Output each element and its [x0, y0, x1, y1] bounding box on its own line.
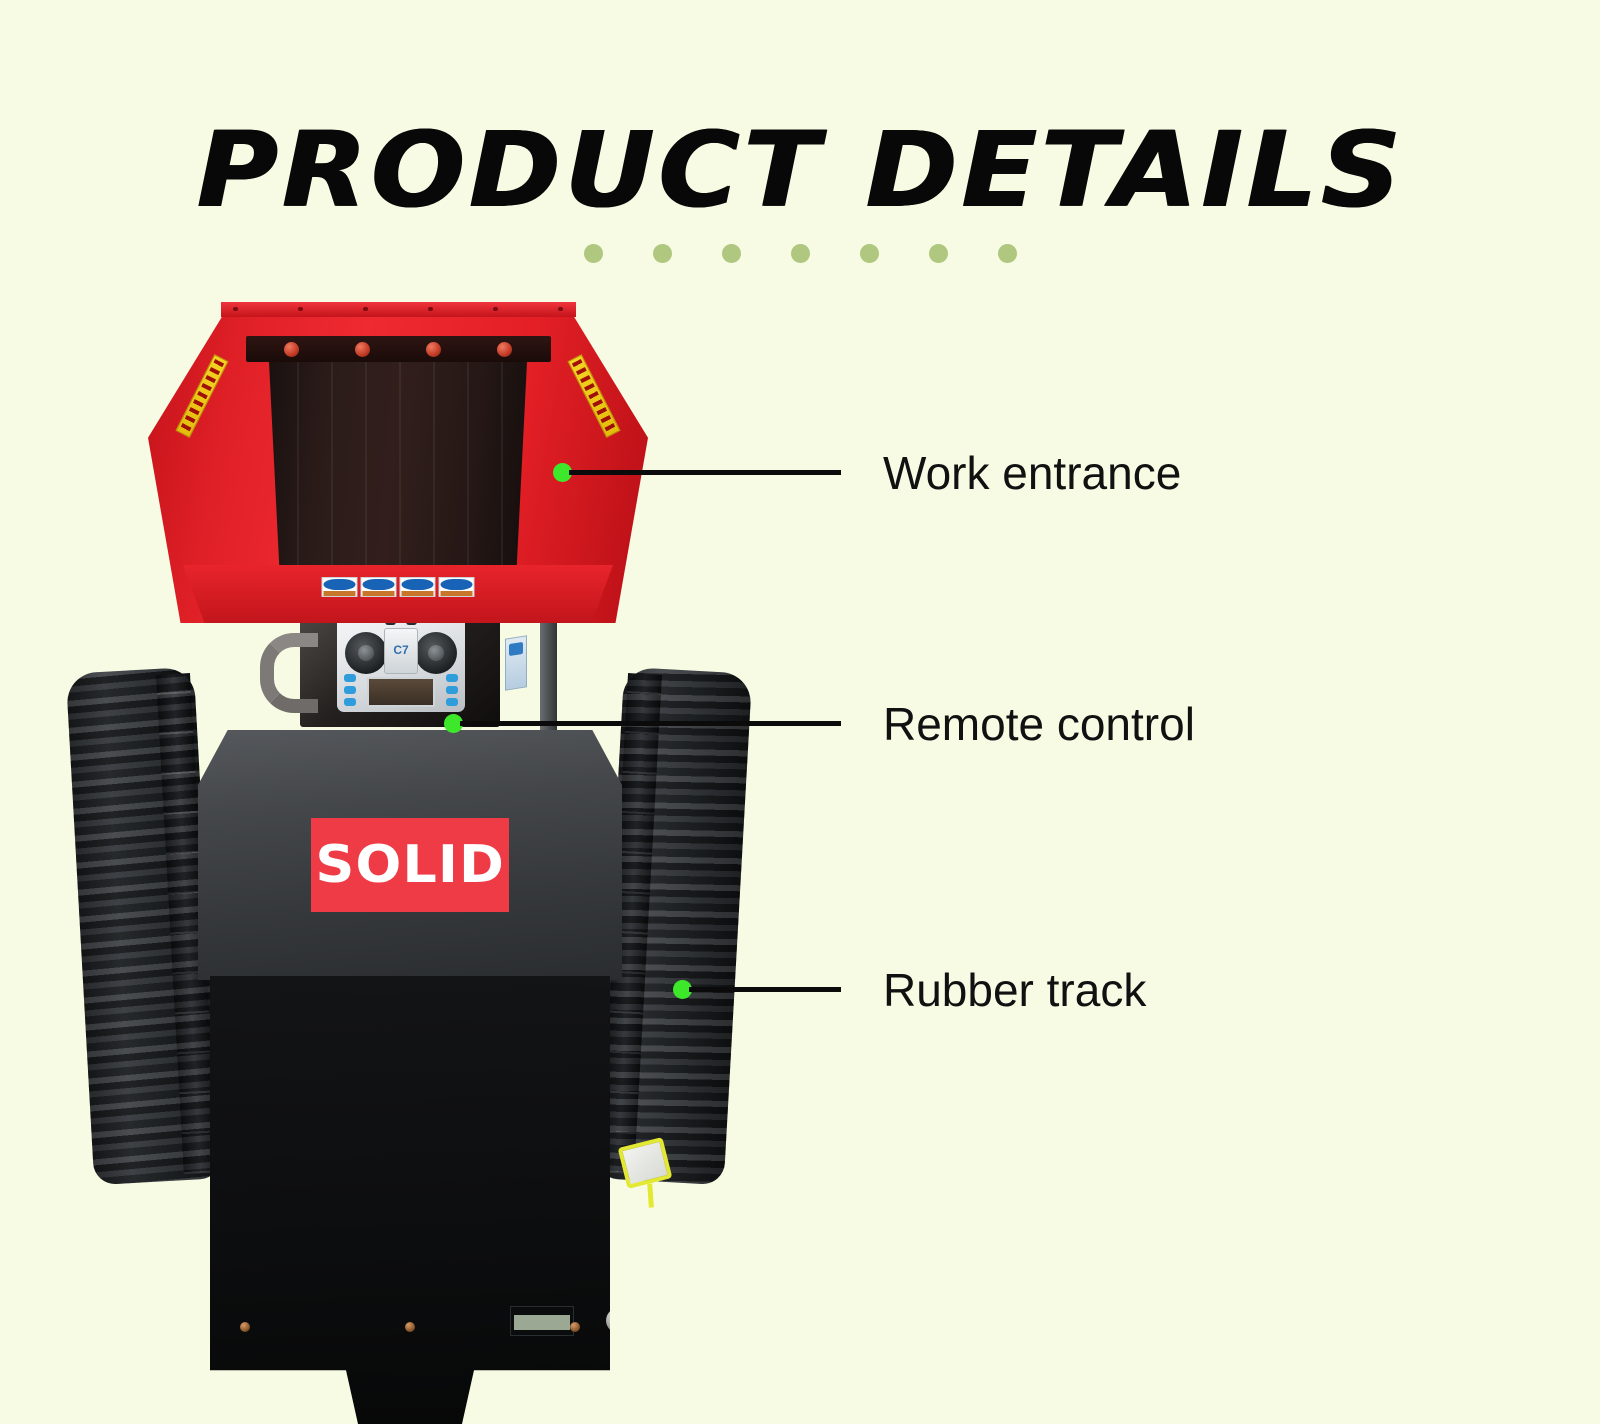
chassis-bolt: [405, 1322, 415, 1332]
remote-joystick-left: [345, 632, 387, 674]
safety-sticker-strip: [322, 577, 475, 597]
decorative-dot: [584, 244, 603, 263]
header-block: PRODUCT DETAILS: [0, 0, 1600, 263]
brand-plate: SOLID: [311, 818, 509, 912]
hopper-bucket: [148, 298, 648, 623]
callout-label: Remote control: [883, 701, 1195, 747]
exhaust-pipe-icon: [260, 633, 318, 713]
engine-spec-tag: [505, 635, 527, 690]
remote-center-badge: C7: [384, 628, 418, 674]
decorative-dot: [998, 244, 1017, 263]
remote-button: [446, 686, 458, 694]
hopper-rivet: [558, 307, 563, 311]
safety-sticker: [322, 577, 358, 597]
remote-button-column-right: [446, 674, 458, 706]
hopper-bolt: [426, 342, 441, 357]
decorative-dot-row: [0, 244, 1600, 263]
hopper-rivet: [363, 307, 368, 311]
chassis-bolt: [240, 1322, 250, 1332]
chassis-rear-panel: [210, 976, 610, 1424]
remote-joystick-right: [415, 632, 457, 674]
hopper-crossbar: [246, 336, 551, 362]
safety-sticker: [400, 577, 436, 597]
brand-label: SOLID: [315, 835, 505, 895]
hopper-rivet: [428, 307, 433, 311]
hopper-rivet: [298, 307, 303, 311]
safety-sticker: [361, 577, 397, 597]
remote-lcd-screen: [367, 677, 435, 707]
remote-button: [344, 686, 356, 694]
callout-leader-line: [460, 721, 841, 726]
decorative-dot: [791, 244, 810, 263]
hopper-bolt: [284, 342, 299, 357]
work-entrance-opening: [263, 350, 533, 565]
product-photo: SOLID C7: [0, 270, 860, 1210]
callout-label: Work entrance: [883, 450, 1181, 496]
hopper-rivet: [233, 307, 238, 311]
chassis-body: SOLID: [190, 730, 630, 1420]
remote-model-label: C7: [385, 643, 417, 657]
callout-label: Rubber track: [883, 967, 1146, 1013]
remote-button: [344, 674, 356, 682]
hopper-bolt: [355, 342, 370, 357]
decorative-dot: [653, 244, 672, 263]
page-title: PRODUCT DETAILS: [0, 0, 1600, 222]
decorative-dot: [929, 244, 948, 263]
chassis-bolt: [570, 1322, 580, 1332]
remote-button: [344, 698, 356, 706]
remote-button: [446, 674, 458, 682]
callout-leader-line: [689, 987, 841, 992]
callout-leader-line: [569, 470, 841, 475]
safety-sticker: [439, 577, 475, 597]
hopper-rivet-row: [233, 307, 563, 312]
hopper-bolt: [497, 342, 512, 357]
hopper-rivet: [493, 307, 498, 311]
chassis-upper-panel: SOLID: [198, 730, 622, 980]
hopper-bolt-row: [246, 336, 551, 362]
remote-button-column-left: [344, 674, 356, 706]
decorative-dot: [860, 244, 879, 263]
chassis-bolt-row: [240, 1322, 580, 1332]
remote-button: [446, 698, 458, 706]
decorative-dot: [722, 244, 741, 263]
panel-latch-knob: [606, 1308, 631, 1333]
